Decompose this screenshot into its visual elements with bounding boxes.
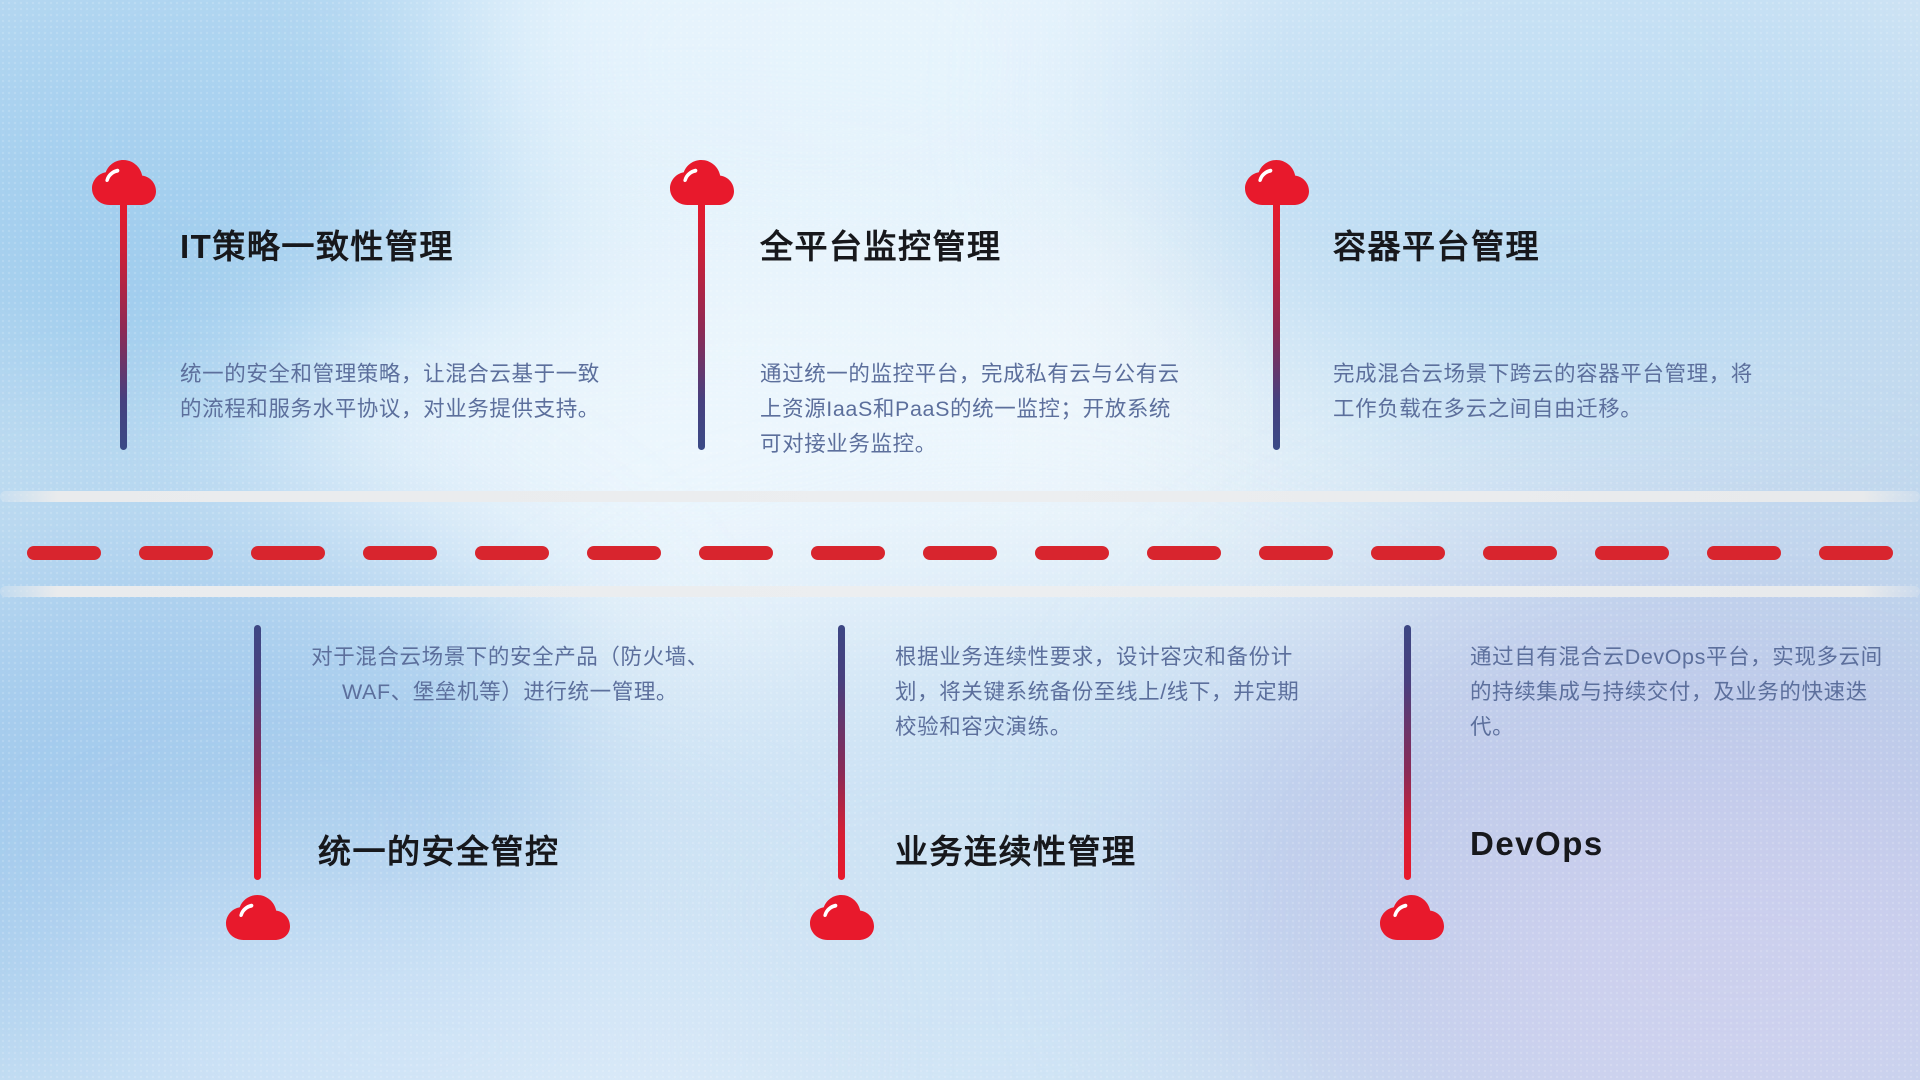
feature-title: 业务连续性管理	[895, 825, 1137, 873]
connector-line	[1404, 625, 1411, 880]
connector-line	[254, 625, 261, 880]
divider-rail-top	[0, 491, 1920, 502]
feature-description: 根据业务连续性要求，设计容灾和备份计划，将关键系统备份至线上/线下，并定期校验和…	[895, 640, 1315, 745]
feature-title: IT策略一致性管理	[180, 220, 454, 268]
feature-title: 全平台监控管理	[760, 220, 1002, 268]
divider-rail-bottom	[0, 586, 1920, 597]
feature-title: 统一的安全管控	[318, 825, 560, 873]
divider-dash	[1707, 546, 1781, 560]
feature-description: 通过自有混合云DevOps平台，实现多云间的持续集成与持续交付，及业务的快速迭代…	[1470, 640, 1890, 745]
infographic-canvas: IT策略一致性管理 统一的安全和管理策略，让混合云基于一致的流程和服务水平协议，…	[0, 0, 1920, 1080]
divider-dash	[1035, 546, 1109, 560]
cloud-icon	[810, 895, 874, 941]
divider-dash	[27, 546, 101, 560]
divider-dash	[1595, 546, 1669, 560]
divider-dash	[923, 546, 997, 560]
divider-dash	[475, 546, 549, 560]
connector-line	[698, 200, 705, 450]
feature-description: 统一的安全和管理策略，让混合云基于一致的流程和服务水平协议，对业务提供支持。	[180, 357, 600, 427]
divider-dash	[1371, 546, 1445, 560]
feature-description: 对于混合云场景下的安全产品（防火墙、WAF、堡垒机等）进行统一管理。	[300, 640, 720, 710]
divider-dash	[1819, 546, 1893, 560]
divider-dash	[1259, 546, 1333, 560]
cloud-icon	[226, 895, 290, 941]
divider-dash	[251, 546, 325, 560]
feature-title: 容器平台管理	[1333, 220, 1540, 268]
divider-dash	[811, 546, 885, 560]
connector-line	[120, 200, 127, 450]
divider-dashed-line	[0, 546, 1920, 560]
divider-dash	[1483, 546, 1557, 560]
cloud-icon	[1380, 895, 1444, 941]
divider-dash	[1147, 546, 1221, 560]
feature-description: 完成混合云场景下跨云的容器平台管理，将工作负载在多云之间自由迁移。	[1333, 357, 1753, 427]
divider-dash	[363, 546, 437, 560]
divider-dash	[699, 546, 773, 560]
feature-description: 通过统一的监控平台，完成私有云与公有云上资源IaaS和PaaS的统一监控；开放系…	[760, 357, 1180, 462]
connector-line	[838, 625, 845, 880]
feature-title: DevOps	[1470, 825, 1604, 863]
connector-line	[1273, 200, 1280, 450]
divider-dash	[139, 546, 213, 560]
divider-dash	[587, 546, 661, 560]
